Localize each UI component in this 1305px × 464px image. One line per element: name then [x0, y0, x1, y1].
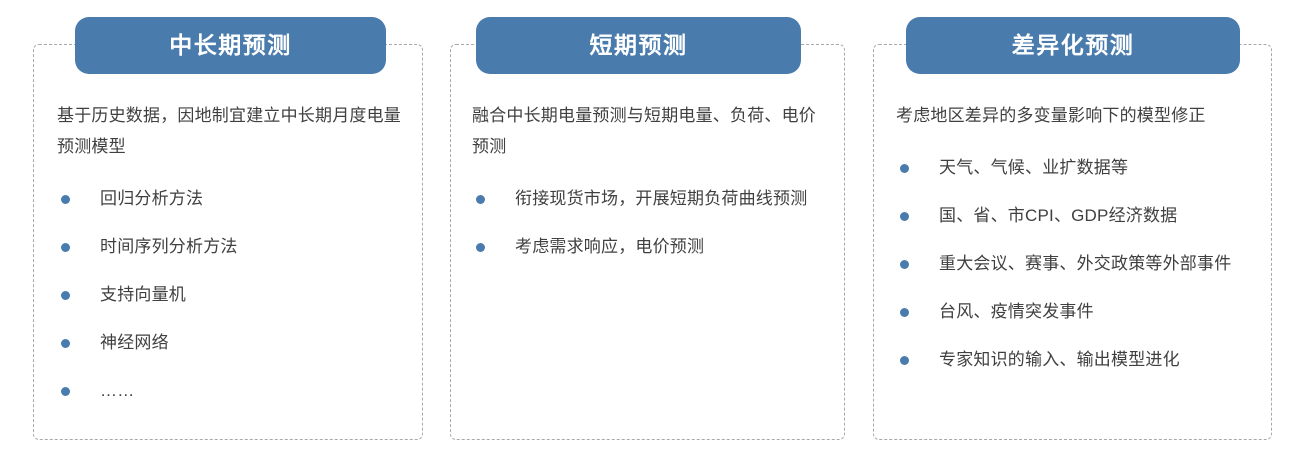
list-item: 回归分析方法 — [57, 184, 402, 214]
panel-intro-text: 考虑地区差异的多变量影响下的模型修正 — [896, 100, 1252, 131]
panel-title: 中长期预测 — [169, 34, 292, 57]
bullet-list-medium-long-term: 回归分析方法 时间序列分析方法 支持向量机 神经网络 …… — [57, 184, 402, 406]
list-item-label: …… — [100, 381, 134, 400]
list-item-label: 回归分析方法 — [100, 189, 203, 208]
panel-title: 短期预测 — [590, 34, 688, 57]
bullet-dot-icon — [900, 212, 909, 221]
list-item: …… — [57, 376, 402, 406]
bullet-dot-icon — [61, 291, 70, 300]
list-item-label: 专家知识的输入、输出模型进化 — [939, 350, 1180, 369]
bullet-dot-icon — [61, 243, 70, 252]
list-item: 国、省、市CPI、GDP经济数据 — [896, 201, 1252, 231]
panel-intro-text: 融合中长期电量预测与短期电量、负荷、电价预测 — [472, 100, 822, 162]
bullet-dot-icon — [900, 260, 909, 269]
panel-header-medium-long-term[interactable]: 中长期预测 — [75, 17, 386, 74]
bullet-dot-icon — [61, 339, 70, 348]
bullet-dot-icon — [61, 387, 70, 396]
list-item-label: 重大会议、赛事、外交政策等外部事件 — [939, 254, 1231, 273]
list-item: 天气、气候、业扩数据等 — [896, 153, 1252, 183]
list-item: 专家知识的输入、输出模型进化 — [896, 345, 1252, 375]
list-item-label: 台风、疫情突发事件 — [939, 302, 1094, 321]
list-item-label: 支持向量机 — [100, 285, 186, 304]
bullet-dot-icon — [476, 195, 485, 204]
bullet-dot-icon — [476, 243, 485, 252]
list-item: 台风、疫情突发事件 — [896, 297, 1252, 327]
panel-body-short-term: 融合中长期电量预测与短期电量、负荷、电价预测 衔接现货市场，开展短期负荷曲线预测… — [472, 100, 822, 280]
list-item-label: 考虑需求响应，电价预测 — [515, 237, 704, 256]
diagram-board: 中长期预测 基于历史数据，因地制宜建立中长期月度电量预测模型 回归分析方法 时间… — [0, 0, 1305, 464]
list-item: 支持向量机 — [57, 280, 402, 310]
bullet-dot-icon — [900, 308, 909, 317]
list-item-label: 衔接现货市场，开展短期负荷曲线预测 — [515, 189, 807, 208]
list-item: 考虑需求响应，电价预测 — [472, 232, 822, 262]
bullet-dot-icon — [900, 356, 909, 365]
list-item: 衔接现货市场，开展短期负荷曲线预测 — [472, 184, 822, 214]
list-item: 重大会议、赛事、外交政策等外部事件 — [896, 249, 1252, 279]
bullet-dot-icon — [61, 195, 70, 204]
panel-header-differentiated[interactable]: 差异化预测 — [906, 17, 1240, 74]
list-item: 神经网络 — [57, 328, 402, 358]
bullet-list-short-term: 衔接现货市场，开展短期负荷曲线预测 考虑需求响应，电价预测 — [472, 184, 822, 262]
list-item-label: 神经网络 — [100, 333, 169, 352]
panel-body-medium-long-term: 基于历史数据，因地制宜建立中长期月度电量预测模型 回归分析方法 时间序列分析方法… — [57, 100, 402, 424]
list-item-label: 国、省、市CPI、GDP经济数据 — [939, 206, 1177, 225]
list-item-label: 时间序列分析方法 — [100, 237, 238, 256]
panel-header-short-term[interactable]: 短期预测 — [476, 17, 801, 74]
bullet-list-differentiated: 天气、气候、业扩数据等 国、省、市CPI、GDP经济数据 重大会议、赛事、外交政… — [896, 153, 1252, 375]
panel-intro-text: 基于历史数据，因地制宜建立中长期月度电量预测模型 — [57, 100, 402, 162]
bullet-dot-icon — [900, 164, 909, 173]
panel-title: 差异化预测 — [1012, 34, 1135, 57]
list-item: 时间序列分析方法 — [57, 232, 402, 262]
list-item-label: 天气、气候、业扩数据等 — [939, 158, 1128, 177]
panel-body-differentiated: 考虑地区差异的多变量影响下的模型修正 天气、气候、业扩数据等 国、省、市CPI、… — [896, 100, 1252, 393]
